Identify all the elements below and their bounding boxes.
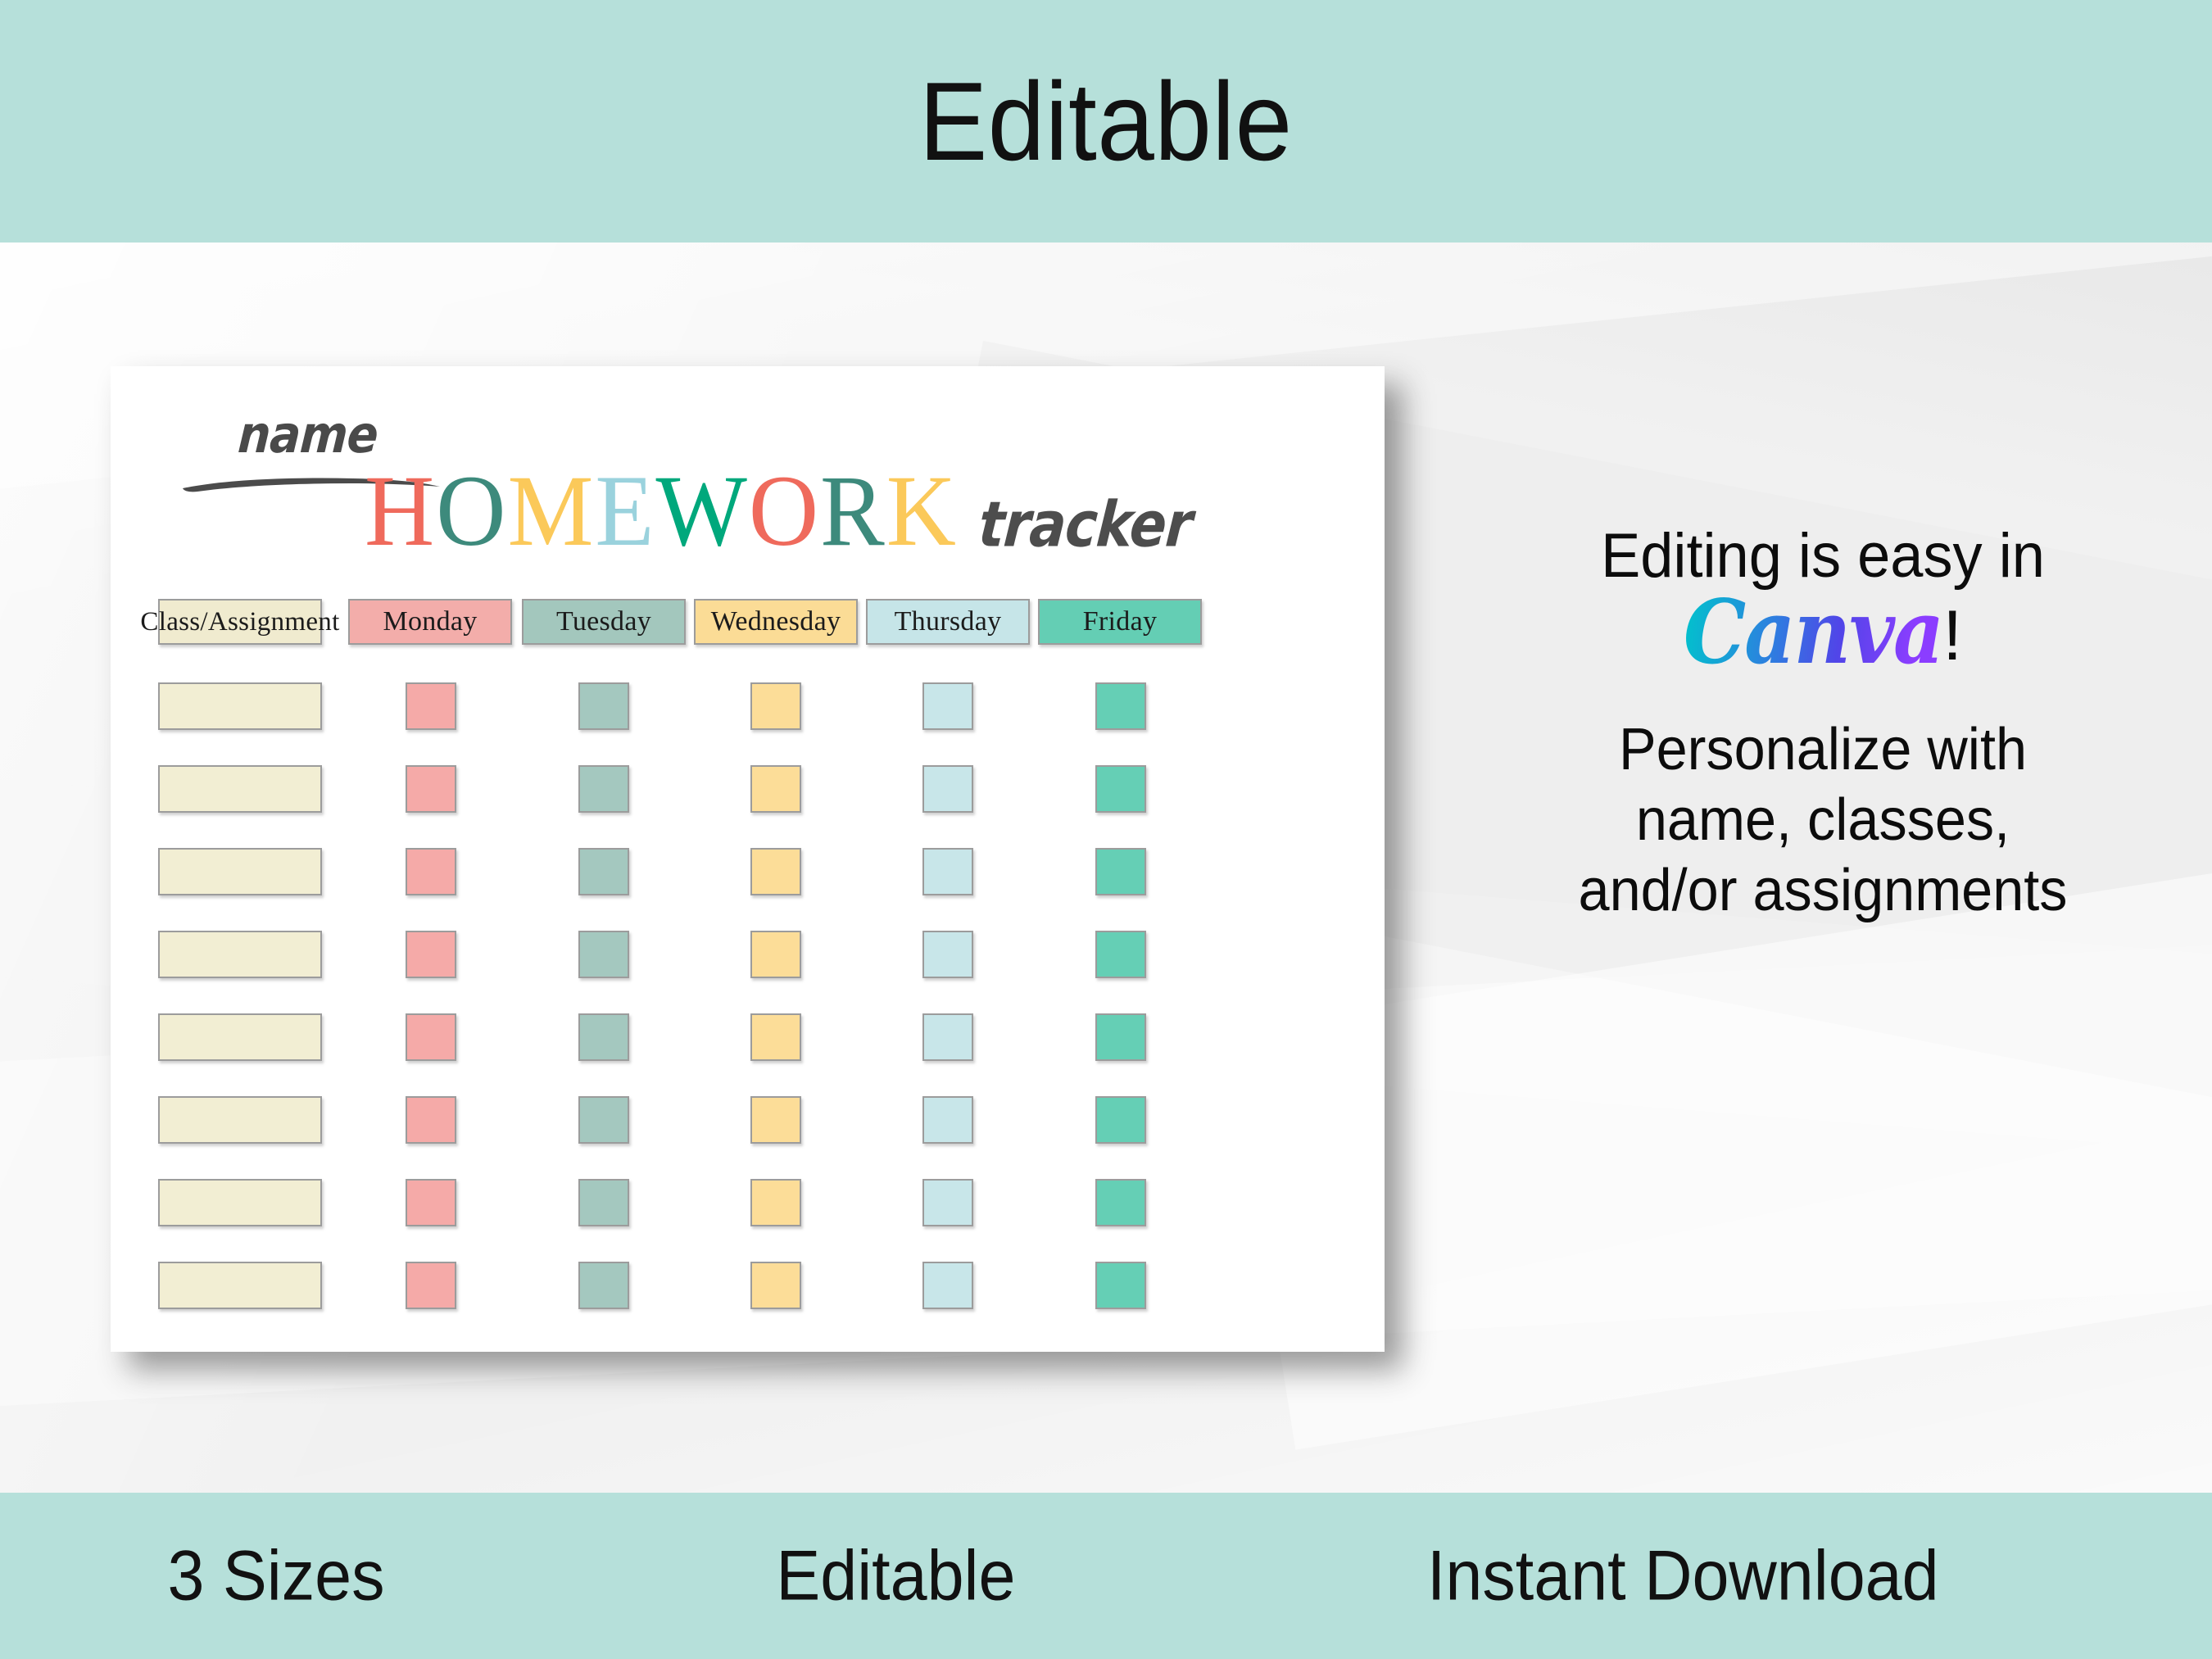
day-checkbox-cell[interactable] — [578, 848, 629, 895]
day-checkbox-cell[interactable] — [1095, 1179, 1146, 1226]
assignment-input-cell[interactable] — [158, 1013, 322, 1061]
table-header-cell[interactable]: Wednesday — [694, 599, 858, 645]
day-checkbox-cell[interactable] — [750, 1096, 801, 1144]
table-header-label: Thursday — [895, 606, 1002, 637]
day-checkbox-cell[interactable] — [750, 682, 801, 730]
day-checkbox-cell[interactable] — [922, 848, 973, 895]
assignment-input-cell[interactable] — [158, 1179, 322, 1226]
day-checkbox-cell[interactable] — [578, 1262, 629, 1309]
assignment-input-cell[interactable] — [158, 931, 322, 978]
day-checkbox-cell[interactable] — [1095, 848, 1146, 895]
table-header-cell[interactable]: Friday — [1038, 599, 1202, 645]
day-checkbox-cell[interactable] — [406, 1179, 456, 1226]
day-checkbox-cell[interactable] — [1095, 1096, 1146, 1144]
table-header-label: Wednesday — [711, 606, 841, 637]
footer-item-editable: Editable — [776, 1535, 1015, 1616]
day-checkbox-cell[interactable] — [750, 1013, 801, 1061]
promo-body-line-1: name, classes, — [1484, 785, 2162, 855]
day-checkbox-cell[interactable] — [578, 1013, 629, 1061]
day-checkbox-cell[interactable] — [406, 1013, 456, 1061]
table-header-label: Monday — [383, 606, 477, 637]
table-header-cell[interactable]: Tuesday — [522, 599, 686, 645]
day-checkbox-cell[interactable] — [750, 1262, 801, 1309]
day-checkbox-cell[interactable] — [1095, 931, 1146, 978]
day-checkbox-cell[interactable] — [406, 931, 456, 978]
day-checkbox-cell[interactable] — [406, 1262, 456, 1309]
homework-tracker-card: name HOMEWORK tracker Class/AssignmentMo… — [111, 366, 1385, 1352]
table-header-cell[interactable]: Monday — [348, 599, 512, 645]
footer-item-sizes: 3 Sizes — [167, 1535, 384, 1616]
promo-headline: Editing is easy in — [1484, 524, 2162, 588]
promo-body: Personalize with name, classes, and/or a… — [1484, 714, 2162, 927]
day-checkbox-cell[interactable] — [578, 765, 629, 813]
day-checkbox-cell[interactable] — [750, 931, 801, 978]
day-checkbox-cell[interactable] — [578, 1096, 629, 1144]
promo-text-block: Editing is easy in Canva! Personalize wi… — [1466, 524, 2179, 927]
table-header-cell[interactable]: Class/Assignment — [158, 599, 322, 645]
day-checkbox-cell[interactable] — [922, 1262, 973, 1309]
day-checkbox-cell[interactable] — [1095, 765, 1146, 813]
top-banner: Editable — [0, 0, 2212, 243]
day-checkbox-cell[interactable] — [406, 765, 456, 813]
day-checkbox-cell[interactable] — [922, 1179, 973, 1226]
assignment-input-cell[interactable] — [158, 765, 322, 813]
footer-items: 3 Sizes Editable Instant Download — [0, 1493, 2212, 1659]
assignment-input-cell[interactable] — [158, 1096, 322, 1144]
canva-wordmark: Canva — [1684, 588, 1942, 677]
table-header-label: Friday — [1083, 606, 1158, 637]
day-checkbox-cell[interactable] — [406, 1096, 456, 1144]
canva-brand-row: Canva! — [1466, 593, 2179, 672]
table-header-label: Tuesday — [556, 606, 651, 637]
top-banner-title: Editable — [919, 66, 1293, 177]
day-checkbox-cell[interactable] — [578, 682, 629, 730]
assignment-input-cell[interactable] — [158, 682, 322, 730]
day-checkbox-cell[interactable] — [750, 765, 801, 813]
day-checkbox-cell[interactable] — [922, 765, 973, 813]
assignment-input-cell[interactable] — [158, 848, 322, 895]
day-checkbox-cell[interactable] — [1095, 1262, 1146, 1309]
promo-body-line-2: and/or assignments — [1484, 855, 2162, 926]
canva-exclamation: ! — [1942, 601, 1962, 671]
day-checkbox-cell[interactable] — [578, 1179, 629, 1226]
day-checkbox-cell[interactable] — [922, 682, 973, 730]
tracker-table: Class/AssignmentMondayTuesdayWednesdayTh… — [111, 366, 1385, 1352]
day-checkbox-cell[interactable] — [1095, 682, 1146, 730]
day-checkbox-cell[interactable] — [406, 682, 456, 730]
day-checkbox-cell[interactable] — [922, 1013, 973, 1061]
day-checkbox-cell[interactable] — [406, 848, 456, 895]
day-checkbox-cell[interactable] — [1095, 1013, 1146, 1061]
day-checkbox-cell[interactable] — [922, 931, 973, 978]
table-header-cell[interactable]: Thursday — [866, 599, 1030, 645]
day-checkbox-cell[interactable] — [922, 1096, 973, 1144]
table-header-label: Class/Assignment — [140, 607, 339, 637]
day-checkbox-cell[interactable] — [750, 848, 801, 895]
day-checkbox-cell[interactable] — [578, 931, 629, 978]
promo-body-line-0: Personalize with — [1484, 714, 2162, 785]
day-checkbox-cell[interactable] — [750, 1179, 801, 1226]
promo-graphic: Editable name HOMEWORK tracker Class/Ass… — [0, 0, 2212, 1659]
footer-item-instant-download: Instant Download — [1427, 1535, 1939, 1616]
assignment-input-cell[interactable] — [158, 1262, 322, 1309]
